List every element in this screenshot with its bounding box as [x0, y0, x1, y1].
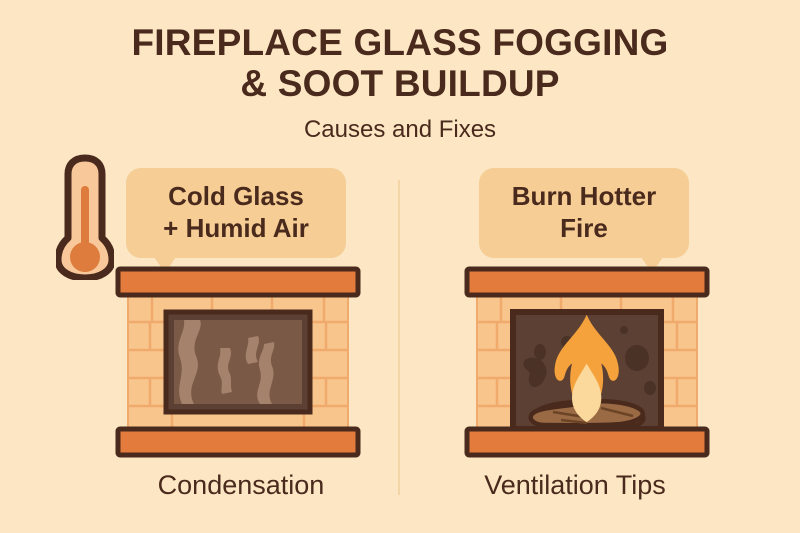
callout-left-line-1: Cold Glass — [168, 181, 304, 213]
page-title-line-1: FIREPLACE GLASS FOGGING — [0, 22, 800, 63]
fireplace-fire-soot-illustration — [461, 266, 713, 458]
page-title-line-2: & SOOT BUILDUP — [0, 63, 800, 104]
callout-right-line-1: Burn Hotter — [512, 181, 656, 213]
infographic-canvas: FIREPLACE GLASS FOGGING & SOOT BUILDUP C… — [0, 0, 800, 533]
callout-bubble-left: Cold Glass + Humid Air — [126, 168, 346, 258]
page-subtitle: Causes and Fixes — [0, 116, 800, 144]
caption-left: Condensation — [91, 470, 391, 501]
callout-bubble-right: Burn Hotter Fire — [479, 168, 689, 258]
fireplace-fogged-glass-illustration — [112, 266, 364, 458]
header: FIREPLACE GLASS FOGGING & SOOT BUILDUP C… — [0, 22, 800, 144]
panel-divider — [398, 180, 400, 495]
fogged-glass — [174, 320, 302, 404]
caption-right: Ventilation Tips — [425, 470, 725, 501]
callout-right-line-2: Fire — [560, 213, 608, 245]
callout-left-line-2: + Humid Air — [163, 213, 309, 245]
thermometer-icon — [56, 152, 114, 280]
